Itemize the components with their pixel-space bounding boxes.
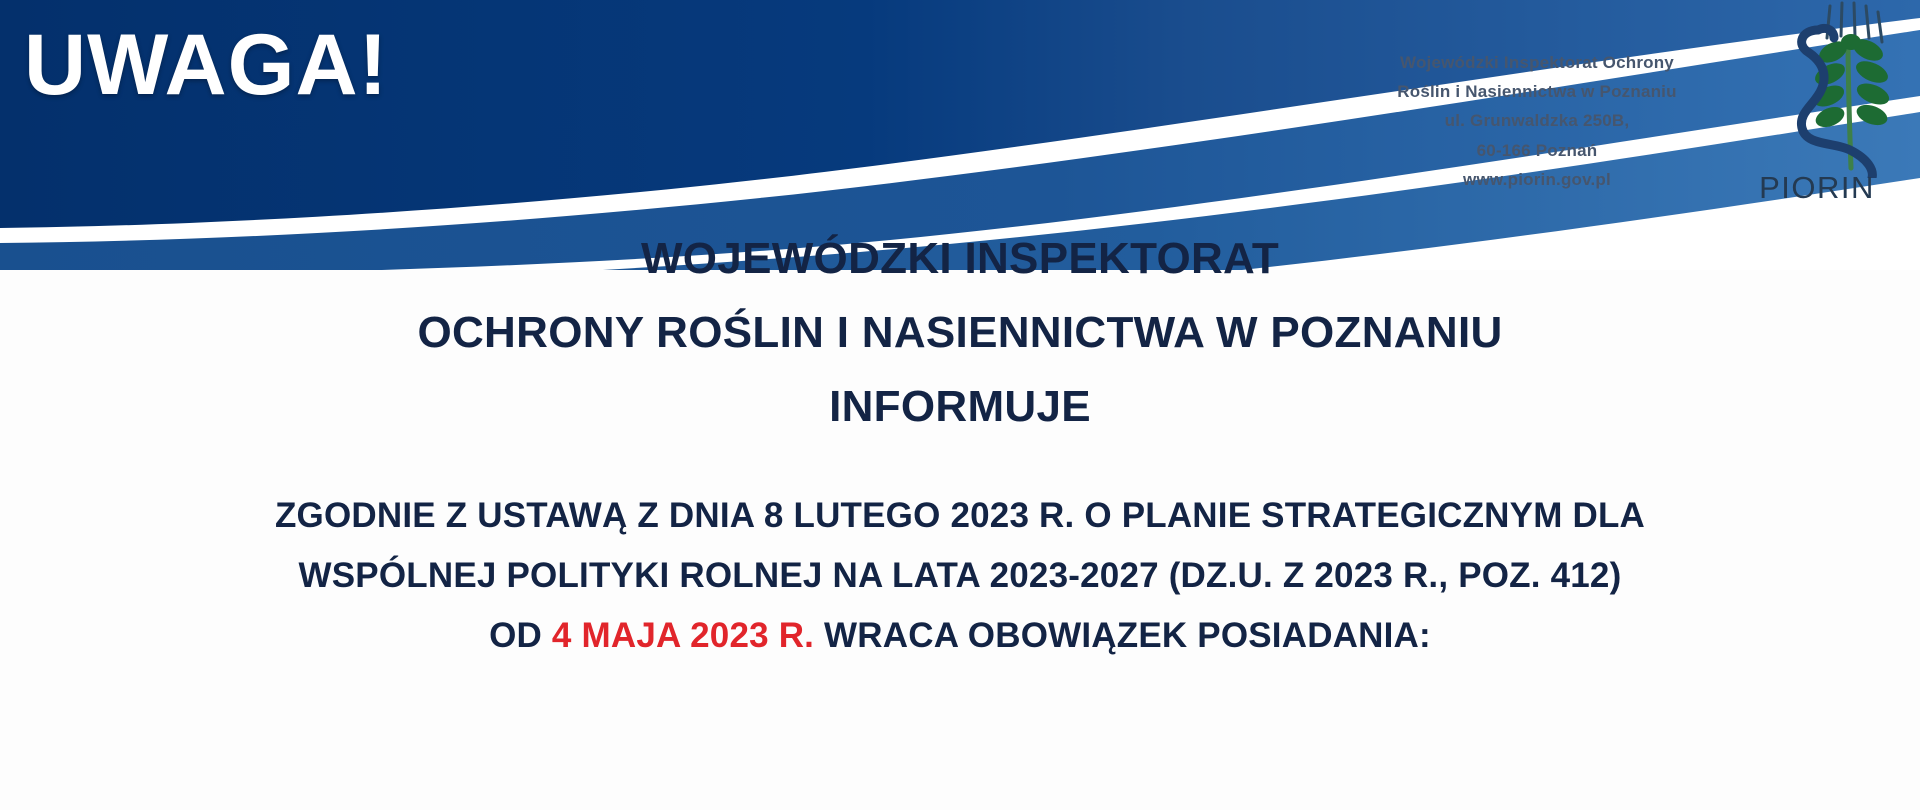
address-line-4: 60-166 Poznań (1372, 136, 1702, 165)
notice-line-2: WSPÓLNEJ POLITYKI ROLNEJ NA LATA 2023-20… (0, 546, 1920, 606)
piorin-wordmark: PIORIN (1722, 172, 1912, 203)
poster-root: UWAGA! Wojewódzki Inspektorat Ochrony Ro… (0, 0, 1920, 810)
wheat-snake-emblem-icon (1722, 0, 1912, 178)
piorin-logo: PIORIN (1722, 0, 1912, 215)
address-line-3: ul. Grunwaldzka 250B, (1372, 106, 1702, 135)
notice-line-3: OD 4 MAJA 2023 R. WRACA OBOWIĄZEK POSIAD… (0, 606, 1920, 666)
legal-notice-block: ZGODNIE Z USTAWĄ Z DNIA 8 LUTEGO 2023 R.… (0, 486, 1920, 666)
alert-heading: UWAGA! (24, 22, 388, 108)
notice-line-2-text: WSPÓLNEJ POLITYKI ROLNEJ NA LATA 2023-20… (299, 556, 1622, 595)
notice-line-1: ZGODNIE Z USTAWĄ Z DNIA 8 LUTEGO 2023 R.… (0, 486, 1920, 546)
organization-address: Wojewódzki Inspektorat Ochrony Roślin i … (1372, 48, 1702, 194)
poster-content: WOJEWÓDZKI INSPEKTORAT OCHRONY ROŚLIN I … (0, 222, 1920, 666)
title-line-1: WOJEWÓDZKI INSPEKTORAT (0, 222, 1920, 296)
address-line-1: Wojewódzki Inspektorat Ochrony (1372, 48, 1702, 77)
title-line-3: INFORMUJE (0, 370, 1920, 444)
title-line-2: OCHRONY ROŚLIN I NASIENNICTWA W POZNANIU (0, 296, 1920, 370)
notice-line-3-suffix: WRACA OBOWIĄZEK POSIADANIA: (814, 616, 1431, 655)
notice-line-3-prefix: OD (489, 616, 552, 655)
effective-date-highlight: 4 MAJA 2023 R. (552, 616, 814, 655)
address-website: www.piorin.gov.pl (1372, 165, 1702, 194)
address-line-2: Roślin i Nasiennictwa w Poznaniu (1372, 77, 1702, 106)
notice-line-1-text: ZGODNIE Z USTAWĄ Z DNIA 8 LUTEGO 2023 R.… (275, 496, 1645, 535)
